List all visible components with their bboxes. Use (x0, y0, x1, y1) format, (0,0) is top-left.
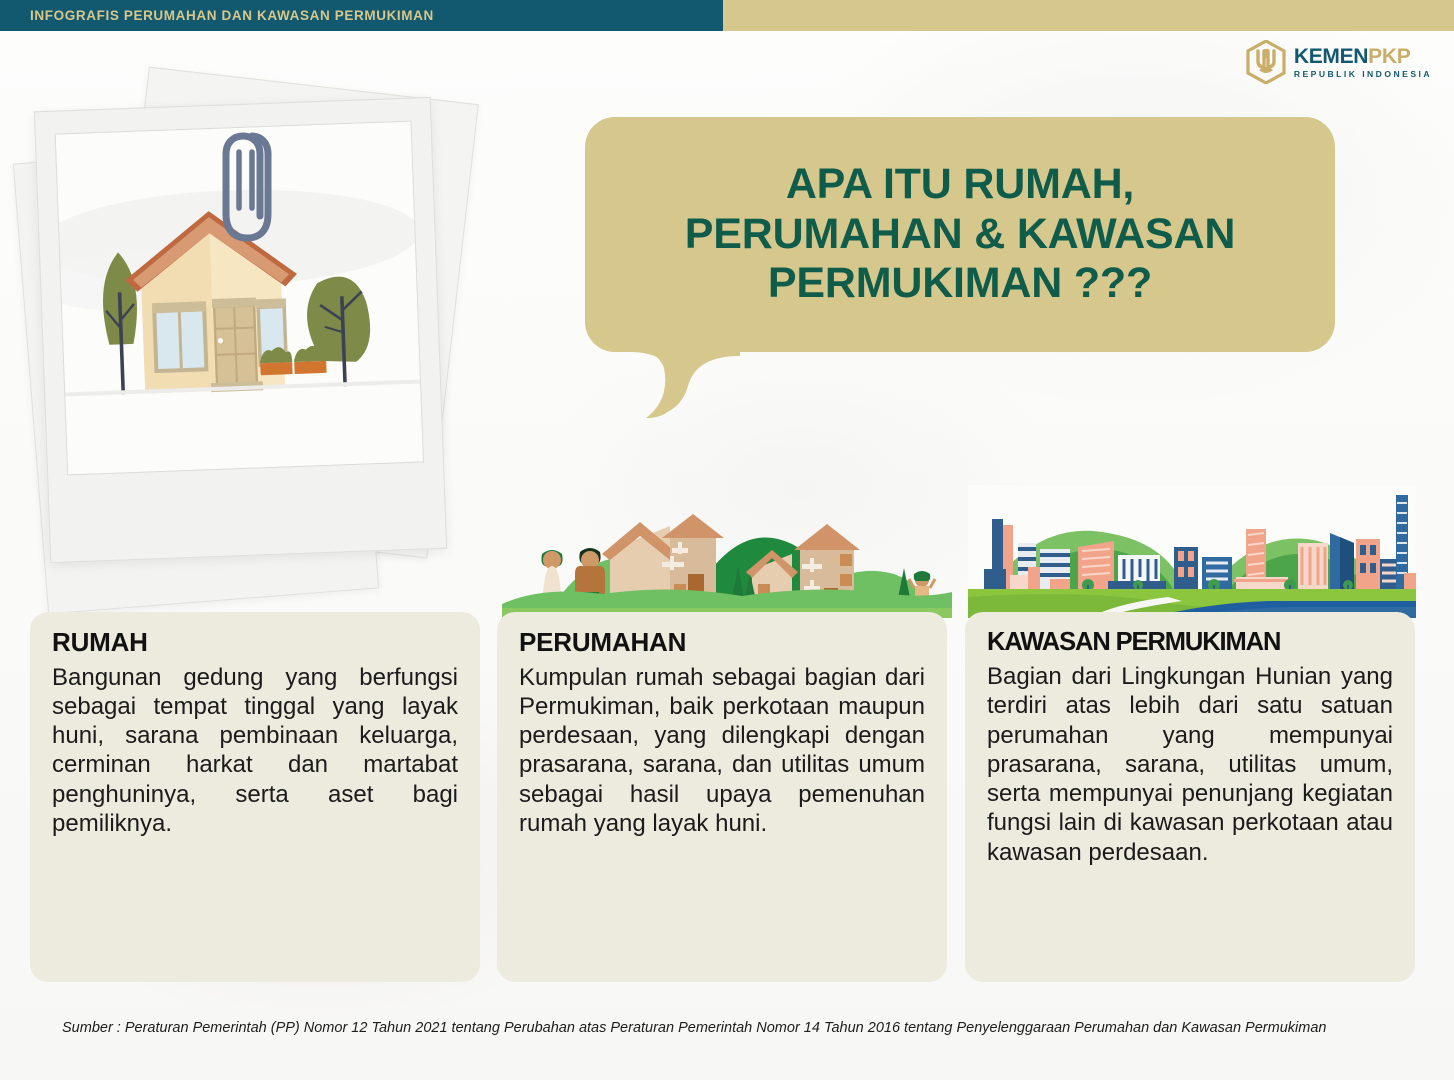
kemenpkp-logo: KEMENPKP REPUBLIK INDONESIA (1246, 40, 1432, 84)
logo-word-kemen: KEMEN (1294, 45, 1368, 68)
bubble-heading-line-2: PERUMAHAN & KAWASAN (610, 210, 1310, 260)
card-rumah: RUMAH Bangunan gedung yang berfungsi seb… (30, 612, 480, 982)
paperclip-icon (218, 130, 276, 260)
bubble-heading-line-3: PERMUKIMAN ??? (610, 259, 1310, 309)
city-skyline-waterfront-icon (968, 485, 1416, 618)
card-title-rumah: RUMAH (52, 628, 458, 657)
source-note: Sumber : Peraturan Pemerintah (PP) Nomor… (62, 1018, 1402, 1039)
polaroid-photo-stack (22, 72, 492, 612)
card-title-kawasan-permukiman: KAWASAN PERMUKIMAN (987, 628, 1393, 656)
logo-wordmark: KEMENPKP REPUBLIK INDONESIA (1294, 46, 1432, 79)
infographic-page: INFOGRAFIS PERUMAHAN DAN KAWASAN PERMUKI… (0, 0, 1454, 1080)
header-bar: INFOGRAFIS PERUMAHAN DAN KAWASAN PERMUKI… (0, 0, 1454, 31)
card-kawasan-permukiman: KAWASAN PERMUKIMAN Bagian dari Lingkunga… (965, 612, 1415, 982)
card-title-perumahan: PERUMAHAN (519, 628, 925, 657)
village-illustration (502, 488, 952, 618)
bubble-heading: APA ITU RUMAH, PERUMAHAN & KAWASAN PERMU… (610, 160, 1310, 310)
card-body-rumah: Bangunan gedung yang berfungsi sebagai t… (52, 663, 458, 839)
logo-word-pkp: PKP (1368, 45, 1410, 68)
card-perumahan: PERUMAHAN Kumpulan rumah sebagai bagian … (497, 612, 947, 982)
header-title: INFOGRAFIS PERUMAHAN DAN KAWASAN PERMUKI… (0, 8, 434, 23)
header-bar-right (723, 0, 1454, 31)
village-houses-hills-icon (502, 488, 952, 618)
card-body-kawasan-permukiman: Bagian dari Lingkungan Hunian yang terdi… (987, 662, 1393, 867)
kemenpkp-hexagon-emblem-icon (1246, 40, 1286, 84)
card-body-perumahan: Kumpulan rumah sebagai bagian dari Permu… (519, 663, 925, 839)
bubble-heading-line-1: APA ITU RUMAH, (610, 160, 1310, 210)
header-bar-left: INFOGRAFIS PERUMAHAN DAN KAWASAN PERMUKI… (0, 0, 723, 31)
definition-cards: RUMAH Bangunan gedung yang berfungsi seb… (0, 612, 1454, 997)
city-illustration (968, 485, 1416, 618)
speech-bubble-tail-icon (630, 348, 740, 426)
question-speech-bubble: APA ITU RUMAH, PERUMAHAN & KAWASAN PERMU… (585, 117, 1335, 352)
logo-wordmark-line: KEMENPKP (1294, 46, 1432, 67)
logo-subtitle: REPUBLIK INDONESIA (1294, 70, 1432, 79)
